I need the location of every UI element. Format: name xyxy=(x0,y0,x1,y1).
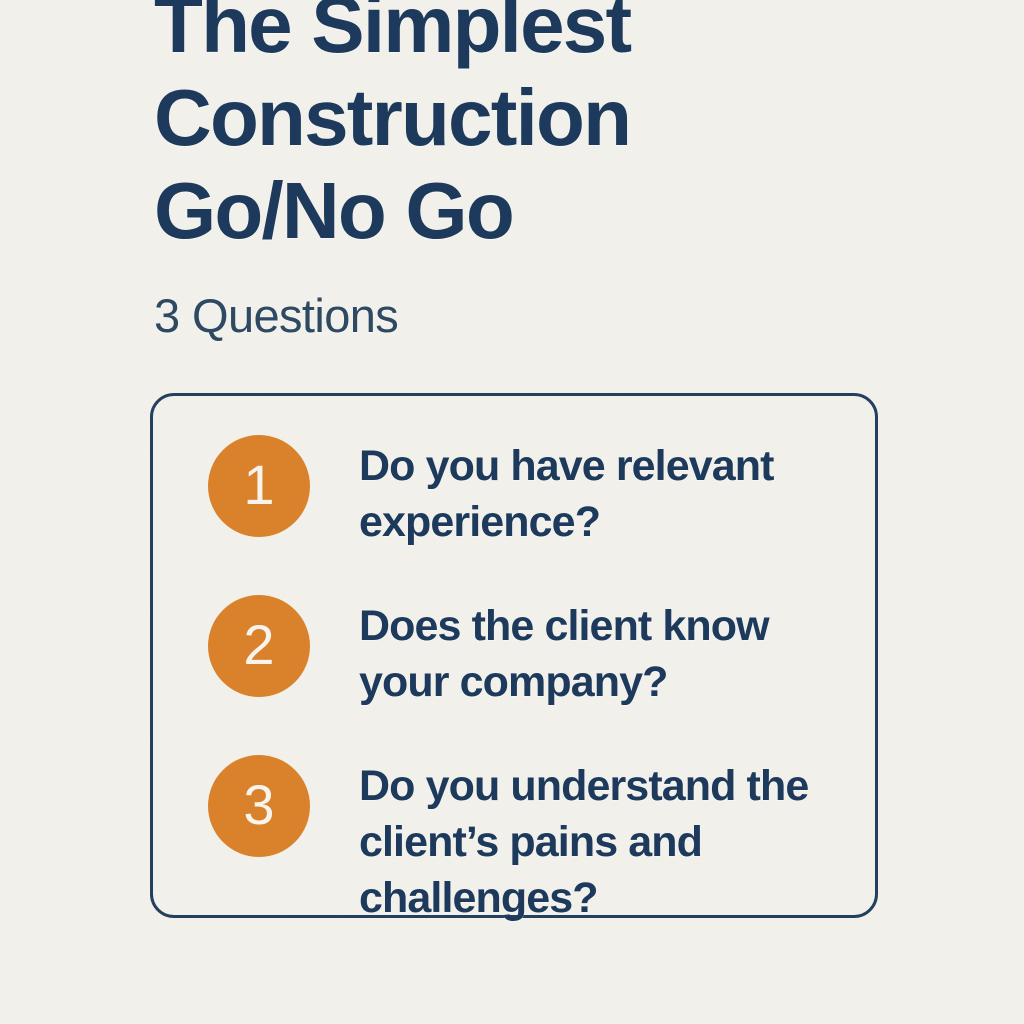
page-title: The Simplest Construction Go/No Go xyxy=(154,0,874,257)
number-badge-3: 3 xyxy=(208,755,310,857)
questions-list: 1 Do you have relevant experience? 2 Doe… xyxy=(208,438,851,926)
questions-card: 1 Do you have relevant experience? 2 Doe… xyxy=(150,393,878,918)
poster-canvas: The Simplest Construction Go/No Go 3 Que… xyxy=(0,0,1024,1024)
question-text-1: Do you have relevant experience? xyxy=(359,438,829,550)
badge-number-label: 2 xyxy=(243,617,274,673)
title-line-1: The Simplest xyxy=(154,0,874,71)
list-item: 1 Do you have relevant experience? xyxy=(208,438,851,550)
page-subtitle: 3 Questions xyxy=(154,288,398,344)
question-text-3: Do you understand the client’s pains and… xyxy=(359,758,829,926)
number-badge-1: 1 xyxy=(208,435,310,537)
title-line-2: Construction xyxy=(154,71,874,164)
list-item: 3 Do you understand the client’s pains a… xyxy=(208,758,851,926)
badge-number-label: 3 xyxy=(243,777,274,833)
question-text-2: Does the client know your company? xyxy=(359,598,829,710)
title-line-3: Go/No Go xyxy=(154,164,874,257)
number-badge-2: 2 xyxy=(208,595,310,697)
badge-number-label: 1 xyxy=(243,457,274,513)
list-item: 2 Does the client know your company? xyxy=(208,598,851,710)
